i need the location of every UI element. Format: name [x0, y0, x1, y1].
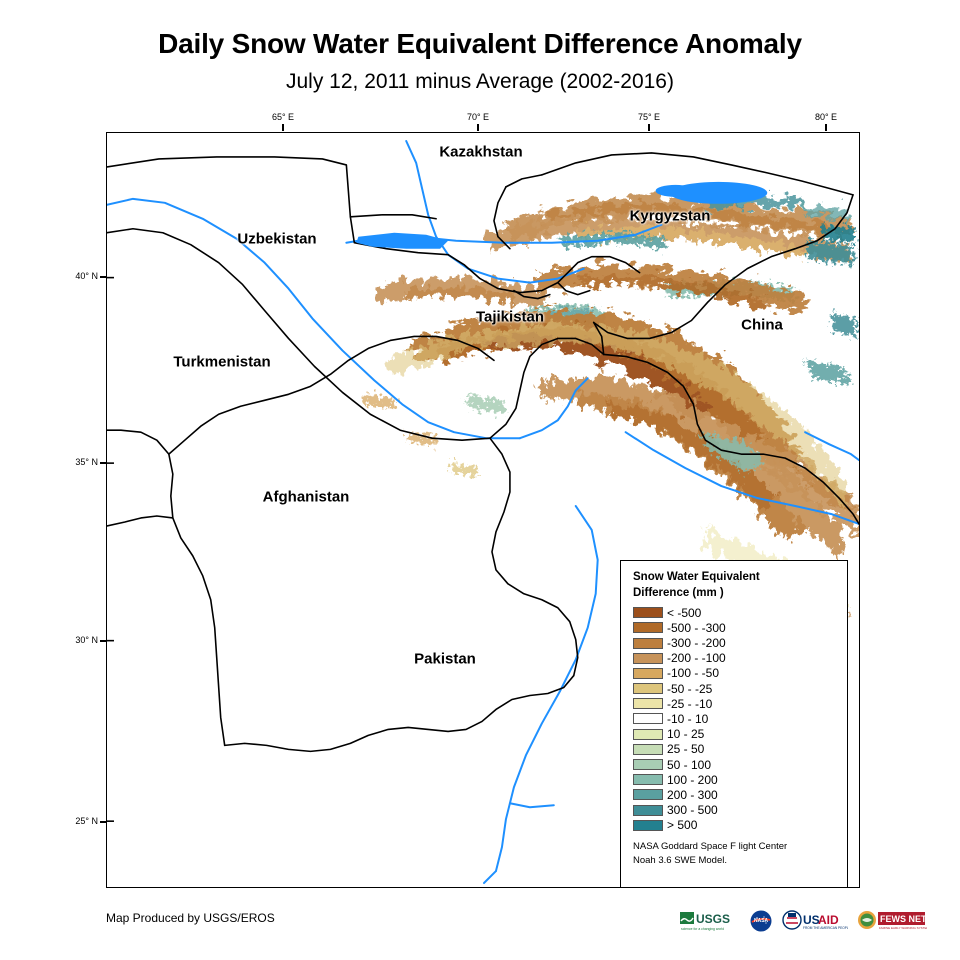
- legend-label: 10 - 25: [667, 727, 704, 741]
- usaid-logo[interactable]: US AID FROM THE AMERICAN PEOPLE: [782, 908, 848, 934]
- lat-label-30: 30° N: [46, 635, 98, 645]
- legend-label: 50 - 100: [667, 758, 711, 772]
- legend-label: -100 - -50: [667, 666, 719, 680]
- legend-label: > 500: [667, 818, 697, 832]
- legend-swatch: [633, 820, 663, 831]
- legend-swatch: [633, 638, 663, 649]
- country-label-kazakhstan: Kazakhstan: [439, 144, 522, 161]
- legend-swatch: [633, 668, 663, 679]
- legend-swatch: [633, 683, 663, 694]
- legend-swatch: [633, 607, 663, 618]
- legend-entry: -200 - -100: [633, 651, 837, 666]
- legend-entry: -300 - -200: [633, 635, 837, 650]
- graticule-ticks: [107, 278, 114, 822]
- legend-label: -50 - -25: [667, 682, 712, 696]
- legend-entry: -10 - 10: [633, 711, 837, 726]
- legend-entry: -25 - -10: [633, 696, 837, 711]
- country-label-kyrgyzstan: Kyrgyzstan: [630, 208, 711, 225]
- svg-text:NASA: NASA: [754, 918, 769, 924]
- legend-label: -10 - 10: [667, 712, 708, 726]
- nasa-logo[interactable]: NASA: [749, 908, 773, 934]
- legend-entry-list: < -500-500 - -300-300 - -200-200 - -100-…: [633, 605, 837, 833]
- lat-tick-25: [100, 821, 107, 823]
- legend-swatch: [633, 774, 663, 785]
- legend-label: 100 - 200: [667, 773, 718, 787]
- svg-text:science for a changing world: science for a changing world: [681, 927, 724, 931]
- fewsnet-logo[interactable]: FEWS NET FAMINE EARLY WARNING SYSTEMS NE…: [857, 908, 927, 934]
- legend-title-line2: Difference (mm ): [633, 586, 837, 602]
- country-label-afghanistan: Afghanistan: [263, 489, 350, 506]
- lat-tick-35: [100, 462, 107, 464]
- map-credit: Map Produced by USGS/EROS: [106, 911, 275, 925]
- legend-entry: 100 - 200: [633, 772, 837, 787]
- lat-label-40: 40° N: [46, 271, 98, 281]
- legend-swatch: [633, 698, 663, 709]
- usgs-logo[interactable]: USGS science for a changing world: [680, 908, 740, 934]
- lon-tick-65: [282, 124, 284, 131]
- legend-source-line2: Noah 3.6 SWE Model.: [633, 854, 837, 868]
- legend-label: -300 - -200: [667, 636, 726, 650]
- lon-label-65: 65° E: [260, 112, 306, 122]
- legend-entry: -50 - -25: [633, 681, 837, 696]
- legend-entry: 300 - 500: [633, 802, 837, 817]
- lat-tick-30: [100, 640, 107, 642]
- country-label-tajikistan: Tajikistan: [476, 309, 544, 326]
- lon-label-80: 80° E: [803, 112, 849, 122]
- svg-text:USGS: USGS: [696, 912, 730, 926]
- legend-swatch: [633, 805, 663, 816]
- svg-text:FROM THE AMERICAN PEOPLE: FROM THE AMERICAN PEOPLE: [803, 926, 848, 930]
- legend-swatch: [633, 713, 663, 724]
- lon-tick-75: [648, 124, 650, 131]
- legend-label: -500 - -300: [667, 621, 726, 635]
- lon-label-75: 75° E: [626, 112, 672, 122]
- legend-entry: 50 - 100: [633, 757, 837, 772]
- agency-logos: USGS science for a changing world NASA U…: [680, 908, 927, 934]
- legend-swatch: [633, 653, 663, 664]
- legend-label: 25 - 50: [667, 742, 704, 756]
- legend-swatch: [633, 759, 663, 770]
- legend-label: -25 - -10: [667, 697, 712, 711]
- page-title: Daily Snow Water Equivalent Difference A…: [0, 28, 960, 60]
- country-label-turkmenistan: Turkmenistan: [173, 354, 270, 371]
- country-label-uzbekistan: Uzbekistan: [237, 231, 316, 248]
- legend-swatch: [633, 622, 663, 633]
- page-subtitle: July 12, 2011 minus Average (2002-2016): [0, 70, 960, 94]
- legend-title-line1: Snow Water Equivalent: [633, 570, 837, 586]
- map-legend: Snow Water Equivalent Difference (mm ) <…: [620, 560, 848, 888]
- lat-label-25: 25° N: [46, 816, 98, 826]
- country-label-pakistan: Pakistan: [414, 651, 476, 668]
- svg-text:FAMINE EARLY WARNING SYSTEMS N: FAMINE EARLY WARNING SYSTEMS NETWORK: [879, 926, 927, 930]
- legend-swatch: [633, 729, 663, 740]
- legend-entry: -500 - -300: [633, 620, 837, 635]
- lon-label-70: 70° E: [455, 112, 501, 122]
- legend-entry: > 500: [633, 818, 837, 833]
- legend-label: 200 - 300: [667, 788, 718, 802]
- legend-source: NASA Goddard Space F light Center Noah 3…: [633, 840, 837, 868]
- legend-label: -200 - -100: [667, 651, 726, 665]
- lat-tick-40: [100, 276, 107, 278]
- lat-label-35: 35° N: [46, 457, 98, 467]
- legend-entry: 200 - 300: [633, 787, 837, 802]
- legend-title: Snow Water Equivalent Difference (mm ): [633, 570, 837, 601]
- svg-text:AID: AID: [818, 913, 839, 927]
- legend-swatch: [633, 789, 663, 800]
- legend-swatch: [633, 744, 663, 755]
- legend-entry: 25 - 50: [633, 742, 837, 757]
- legend-label: 300 - 500: [667, 803, 718, 817]
- legend-entry: < -500: [633, 605, 837, 620]
- svg-text:FEWS NET: FEWS NET: [880, 914, 927, 924]
- legend-entry: 10 - 25: [633, 727, 837, 742]
- legend-label: < -500: [667, 606, 701, 620]
- lon-tick-70: [477, 124, 479, 131]
- lon-tick-80: [825, 124, 827, 131]
- legend-source-line1: NASA Goddard Space F light Center: [633, 840, 837, 854]
- country-label-china: China: [741, 317, 783, 334]
- legend-entry: -100 - -50: [633, 666, 837, 681]
